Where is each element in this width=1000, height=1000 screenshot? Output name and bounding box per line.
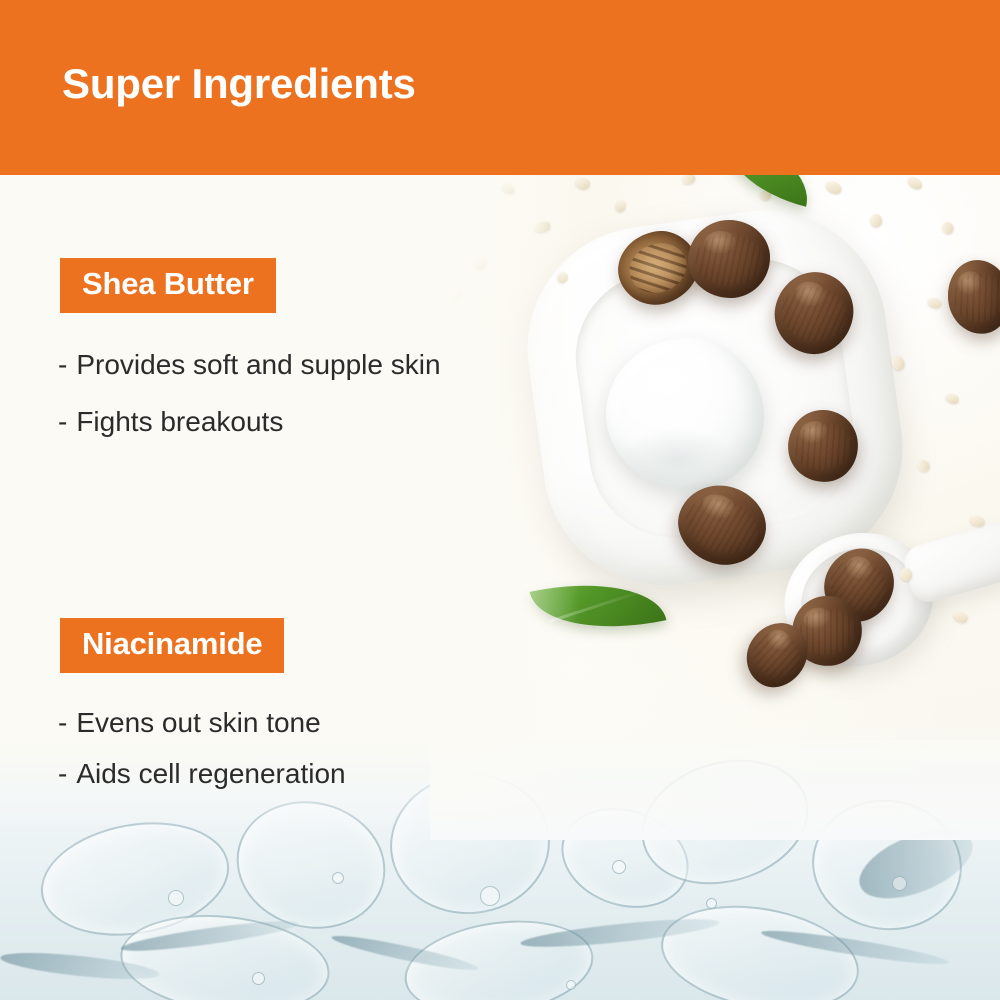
- bullet-dash-icon: -: [58, 404, 67, 440]
- benefit-text: Evens out skin tone: [76, 705, 320, 741]
- header-band: Super Ingredients: [0, 0, 1000, 175]
- bullet-dash-icon: -: [58, 756, 67, 792]
- benefit-item: - Aids cell regeneration: [58, 756, 460, 792]
- page-title: Super Ingredients: [62, 60, 416, 108]
- ingredient-section-shea-butter: Shea Butter - Provides soft and supple s…: [0, 258, 460, 462]
- benefit-list-shea-butter: - Provides soft and supple skin - Fights…: [58, 347, 460, 441]
- benefit-item: - Fights breakouts: [58, 404, 458, 440]
- infographic-poster: Super Ingredients Shea Butter - Provides…: [0, 0, 1000, 1000]
- bullet-dash-icon: -: [58, 705, 67, 741]
- benefit-item: - Provides soft and supple skin: [58, 347, 458, 383]
- benefit-text: Fights breakouts: [76, 404, 283, 440]
- ingredient-section-niacinamide: Niacinamide - Evens out skin tone - Aids…: [0, 618, 460, 808]
- ingredient-badge-shea-butter: Shea Butter: [60, 258, 276, 313]
- benefit-list-niacinamide: - Evens out skin tone - Aids cell regene…: [58, 705, 460, 793]
- bullet-dash-icon: -: [58, 347, 67, 383]
- benefit-text: Aids cell regeneration: [76, 756, 345, 792]
- benefit-text: Provides soft and supple skin: [76, 347, 440, 383]
- benefit-item: - Evens out skin tone: [58, 705, 460, 741]
- ingredient-badge-niacinamide: Niacinamide: [60, 618, 284, 673]
